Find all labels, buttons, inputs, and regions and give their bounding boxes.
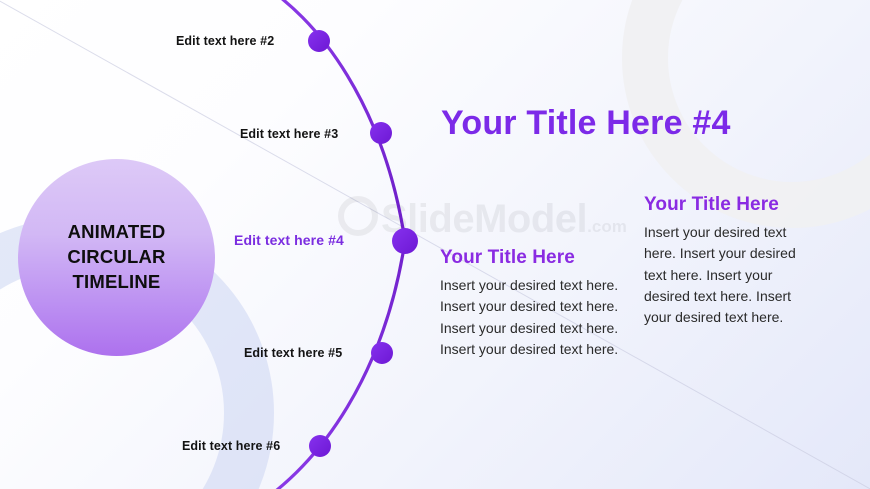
timeline-node-6[interactable] [309, 435, 331, 457]
timeline-label-2[interactable]: Edit text here #2 [176, 34, 274, 48]
timeline-label-4[interactable]: Edit text here #4 [234, 232, 344, 248]
timeline-node-4-active[interactable] [392, 228, 418, 254]
page-title: Your Title Here #4 [441, 104, 731, 143]
column-2-body: Insert your desired text here. Insert yo… [644, 222, 820, 328]
center-circle-line-1: ANIMATED [67, 220, 165, 245]
center-circle[interactable]: ANIMATED CIRCULAR TIMELINE [18, 159, 215, 356]
content-column-2: Your Title Here Insert your desired text… [644, 194, 820, 328]
center-circle-text: ANIMATED CIRCULAR TIMELINE [67, 220, 165, 295]
center-circle-line-2: CIRCULAR [67, 245, 165, 270]
slide-canvas: SlideModel.com Edit text here #2 Edit te [0, 0, 870, 489]
column-2-title: Your Title Here [644, 194, 820, 216]
timeline-node-5[interactable] [371, 342, 393, 364]
content-column-1: Your Title Here Insert your desired text… [440, 247, 622, 360]
center-circle-line-3: TIMELINE [67, 270, 165, 295]
timeline-node-2[interactable] [308, 30, 330, 52]
column-1-title: Your Title Here [440, 247, 622, 269]
timeline-node-3[interactable] [370, 122, 392, 144]
timeline-label-5[interactable]: Edit text here #5 [244, 346, 342, 360]
timeline-label-3[interactable]: Edit text here #3 [240, 127, 338, 141]
column-1-body: Insert your desired text here. Insert yo… [440, 275, 622, 360]
timeline-label-6[interactable]: Edit text here #6 [182, 439, 280, 453]
